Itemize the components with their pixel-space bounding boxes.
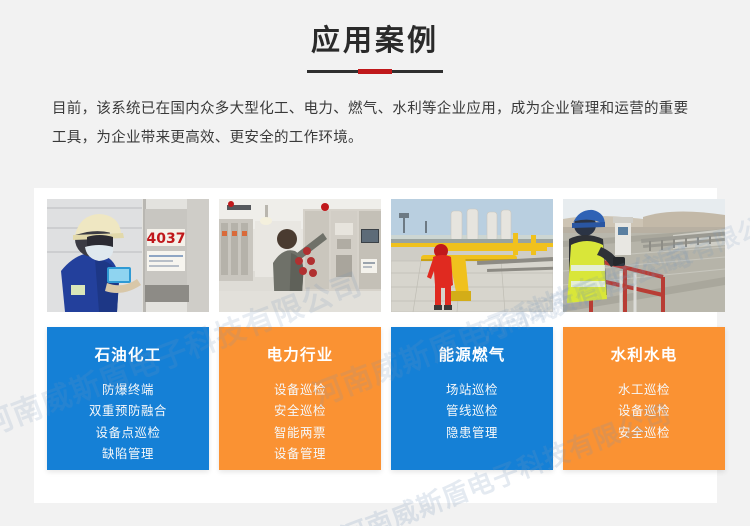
application-cases-page: 应用案例 目前，该系统已在国内众多大型化工、电力、燃气、水利等企业应用，成为企业…: [0, 0, 750, 526]
case-card-item: 水工巡检: [563, 379, 725, 400]
title-divider: [307, 70, 443, 73]
page-title: 应用案例: [0, 24, 750, 57]
case-card-item: 场站巡检: [391, 379, 553, 400]
case-card-item: 安全巡检: [219, 400, 381, 421]
case-column-power: 电力行业 设备巡检 安全巡检 智能两票 设备管理: [219, 199, 381, 470]
case-card-item: 智能两票: [219, 422, 381, 443]
case-column-water: 水利水电 水工巡检 设备巡检 安全巡检: [563, 199, 725, 470]
intro-paragraph: 目前，该系统已在国内众多大型化工、电力、燃气、水利等企业应用，成为企业管理和运营…: [52, 95, 698, 153]
title-divider-accent: [358, 69, 392, 74]
case-card-water[interactable]: 水利水电 水工巡检 设备巡检 安全巡检: [563, 327, 725, 470]
cases-panel: 4037: [34, 188, 717, 503]
case-card-title: 石油化工: [47, 343, 209, 365]
case-card-item: 设备管理: [219, 443, 381, 464]
case-card-item: 管线巡检: [391, 400, 553, 421]
case-card-item: 双重预防融合: [47, 400, 209, 421]
case-card-title: 电力行业: [219, 343, 381, 365]
case-photo-gas: [391, 199, 553, 312]
case-card-title: 水利水电: [563, 343, 725, 365]
case-card-power[interactable]: 电力行业 设备巡检 安全巡检 智能两票 设备管理: [219, 327, 381, 470]
case-card-item: 缺陷管理: [47, 443, 209, 464]
svg-text:4037: 4037: [147, 231, 186, 247]
case-card-item: 隐患管理: [391, 422, 553, 443]
case-card-petrochemical[interactable]: 石油化工 防爆终端 双重预防融合 设备点巡检 缺陷管理: [47, 327, 209, 470]
case-photo-power: [219, 199, 381, 312]
page-header: 应用案例: [0, 0, 750, 73]
case-column-petrochemical: 4037: [47, 199, 209, 470]
case-card-item: 设备巡检: [563, 400, 725, 421]
case-card-gas[interactable]: 能源燃气 场站巡检 管线巡检 隐患管理: [391, 327, 553, 470]
case-card-item: 防爆终端: [47, 379, 209, 400]
case-photo-petrochemical: 4037: [47, 199, 209, 312]
case-card-item: 设备巡检: [219, 379, 381, 400]
case-card-title: 能源燃气: [391, 343, 553, 365]
case-column-gas: 能源燃气 场站巡检 管线巡检 隐患管理: [391, 199, 553, 470]
cases-grid: 4037: [47, 199, 704, 470]
case-card-item: 设备点巡检: [47, 422, 209, 443]
case-card-item: 安全巡检: [563, 422, 725, 443]
case-photo-water: [563, 199, 725, 312]
